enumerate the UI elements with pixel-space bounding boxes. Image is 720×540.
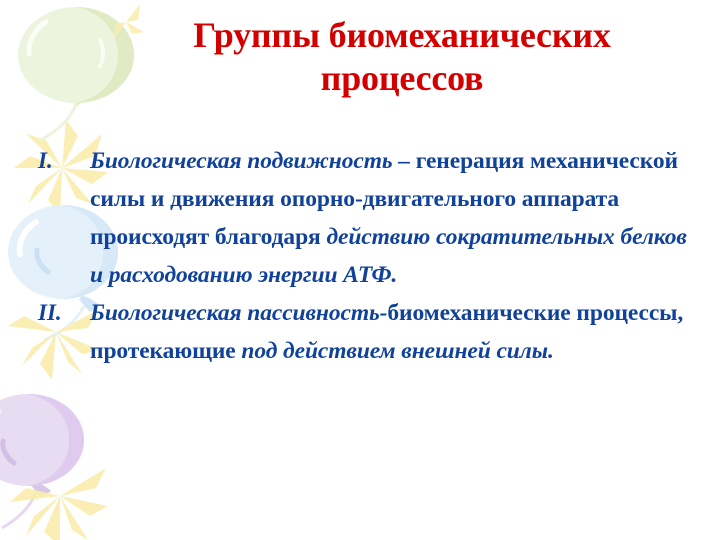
list-marker-2: II. — [28, 294, 90, 332]
slide-canvas: Группы биомеханических процессов I. Биол… — [0, 0, 720, 540]
list-item: I. Биологическая подвижность – генерация… — [28, 142, 704, 294]
title-line-2: процессов — [96, 57, 708, 100]
run-italic: Биологическая подвижность – — [90, 148, 416, 174]
list-text-1: Биологическая подвижность – генерация ме… — [90, 142, 704, 294]
list-text-2: Биологическая пассивность-биомеханически… — [90, 294, 704, 370]
list-item: II. Биологическая пассивность-биомеханич… — [28, 294, 704, 370]
title-line-1: Группы биомеханических — [96, 14, 708, 57]
balloon-lavender — [0, 394, 84, 528]
run-italic: Биологическая пассивность- — [90, 300, 387, 326]
sparkle-starburst-bottom — [10, 468, 108, 540]
run-italic: под действием внешней силы. — [241, 338, 553, 364]
content-list: I. Биологическая подвижность – генерация… — [28, 142, 704, 370]
list-marker-1: I. — [28, 142, 90, 180]
page-title: Группы биомеханических процессов — [96, 14, 708, 100]
